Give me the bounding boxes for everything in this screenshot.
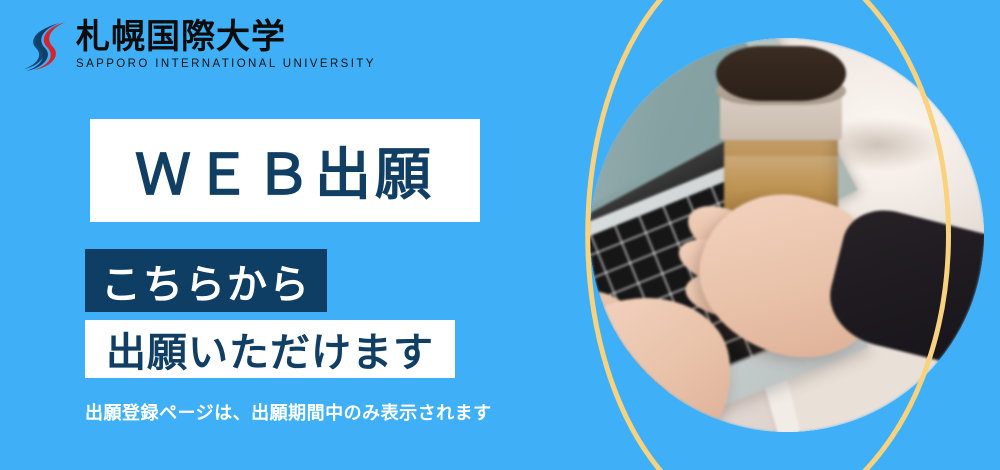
- photo-soft-focus: [590, 38, 984, 432]
- laptop-typing-photo: [590, 38, 984, 432]
- s-swoosh-mark-icon: [22, 18, 70, 76]
- web-application-headline-box: ＷＥＢ出願: [90, 119, 480, 222]
- logo-japanese-name: 札幌国際大学: [76, 18, 376, 56]
- apply-available-label: 出願いただけます: [106, 320, 434, 378]
- logo-wordmark: 札幌国際大学 SAPPORO INTERNATIONAL UNIVERSITY: [76, 18, 376, 70]
- apply-available-box[interactable]: 出願いただけます: [85, 320, 455, 378]
- photo-decoration-area: [560, 0, 1000, 470]
- university-logo[interactable]: 札幌国際大学 SAPPORO INTERNATIONAL UNIVERSITY: [22, 18, 376, 80]
- apply-here-badge[interactable]: こちらから: [85, 249, 327, 312]
- application-period-note: 出願登録ページは、出願期間中のみ表示されます: [85, 399, 535, 425]
- page-title: ＷＥＢ出願: [135, 130, 435, 211]
- apply-here-label: こちらから: [101, 252, 311, 310]
- web-application-banner[interactable]: 札幌国際大学 SAPPORO INTERNATIONAL UNIVERSITY …: [0, 0, 1000, 470]
- logo-english-name: SAPPORO INTERNATIONAL UNIVERSITY: [76, 58, 376, 70]
